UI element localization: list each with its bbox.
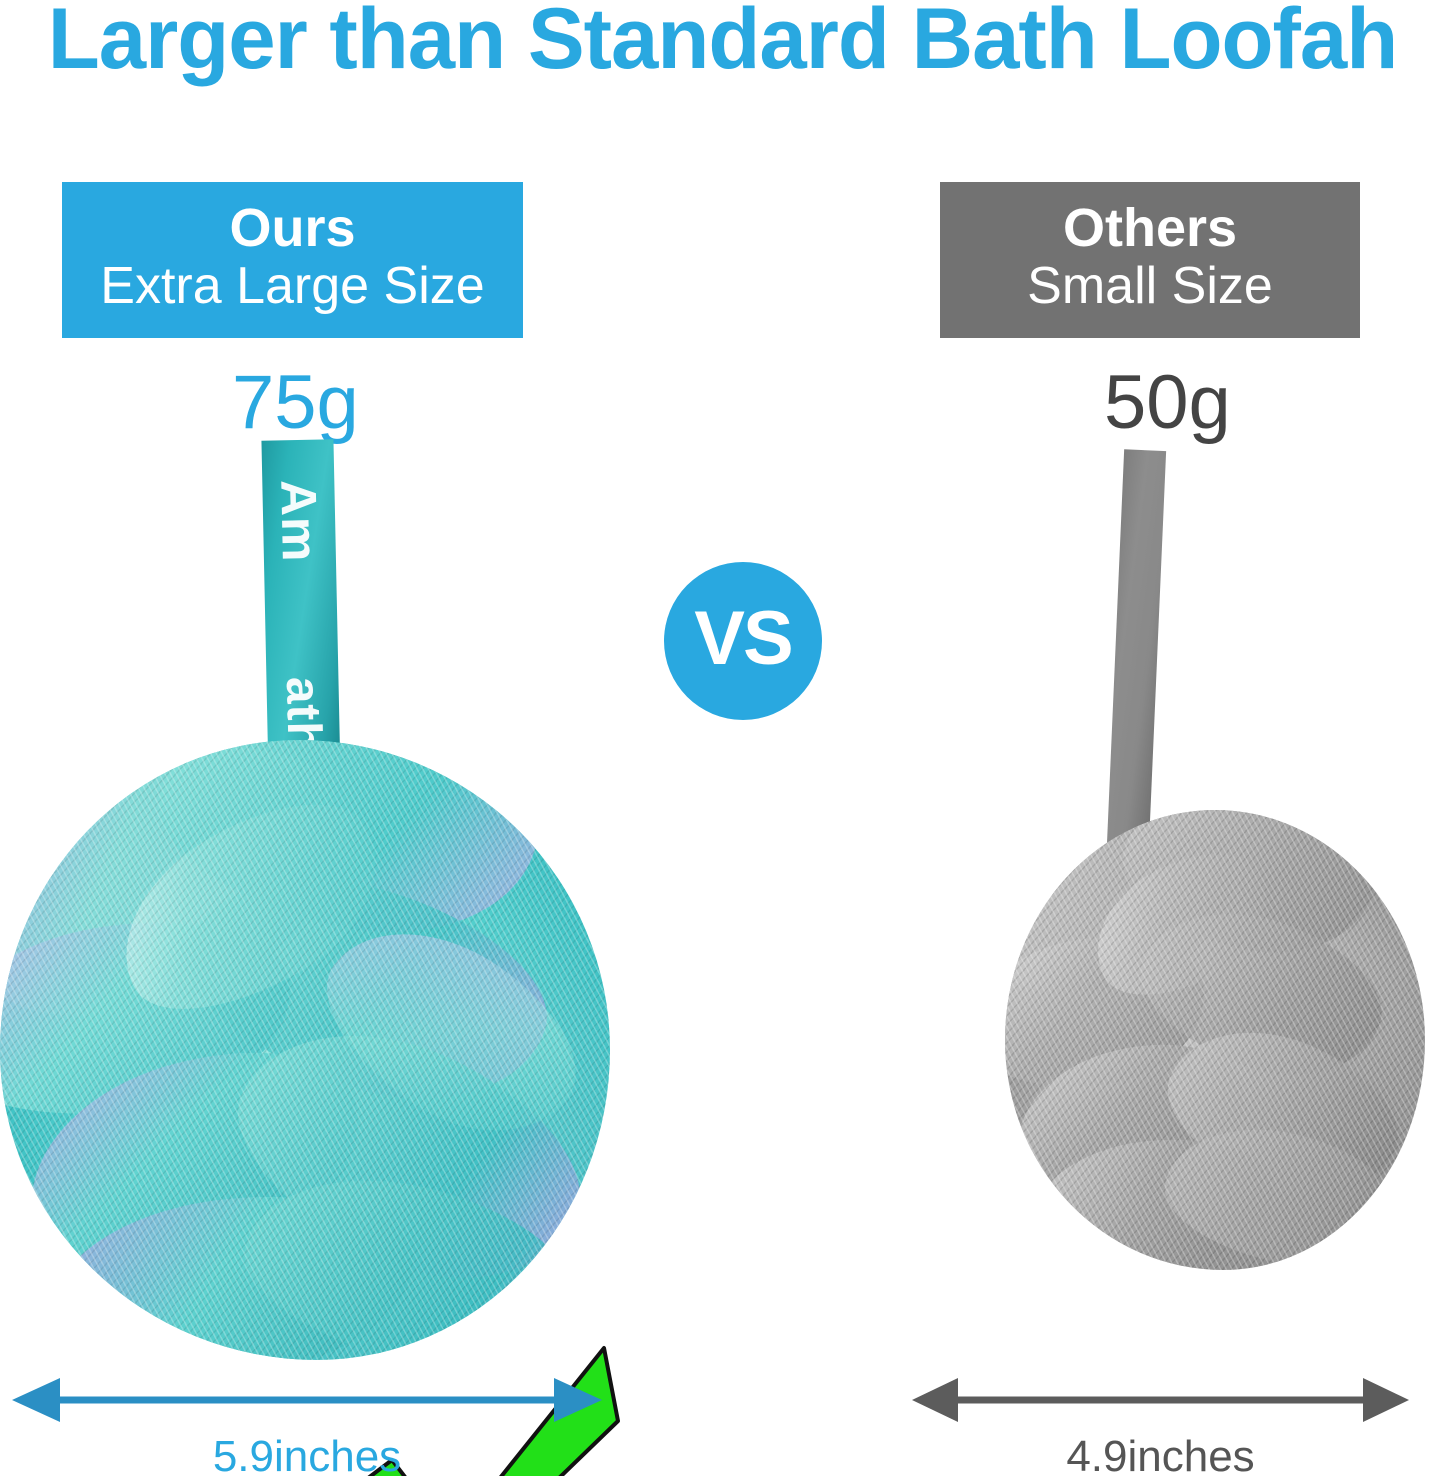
badge-ours-title: Ours	[229, 201, 355, 256]
measurement-others: 4.9inches	[908, 1378, 1413, 1476]
strap-ours: Am ath®	[261, 439, 340, 780]
loofah-ball-others	[1005, 810, 1425, 1270]
measurement-label-ours: 5.9inches	[8, 1434, 606, 1476]
vs-label: VS	[694, 601, 791, 677]
product-others	[920, 450, 1420, 1320]
product-comparison-infographic: Larger than Standard Bath Loofah Ours Ex…	[0, 0, 1445, 1476]
badge-others-subtitle: Small Size	[1027, 258, 1273, 314]
measurement-ours: 5.9inches	[8, 1378, 606, 1476]
vs-badge: VS	[664, 562, 822, 720]
badge-others: Others Small Size	[940, 182, 1360, 338]
strap-others	[1106, 449, 1166, 870]
weight-others: 50g	[1104, 365, 1231, 441]
strap-brand-text-top: Am	[269, 479, 329, 563]
page-title: Larger than Standard Bath Loofah	[7, 0, 1438, 82]
badge-ours: Ours Extra Large Size	[62, 182, 523, 338]
loofah-ball-ours	[0, 740, 610, 1360]
dimension-arrow-ours	[8, 1378, 606, 1422]
badge-ours-subtitle: Extra Large Size	[100, 258, 484, 314]
product-ours: Am ath®	[0, 430, 640, 1360]
badge-others-title: Others	[1063, 201, 1237, 256]
dimension-arrow-others	[908, 1378, 1413, 1422]
measurement-label-others: 4.9inches	[908, 1434, 1413, 1476]
